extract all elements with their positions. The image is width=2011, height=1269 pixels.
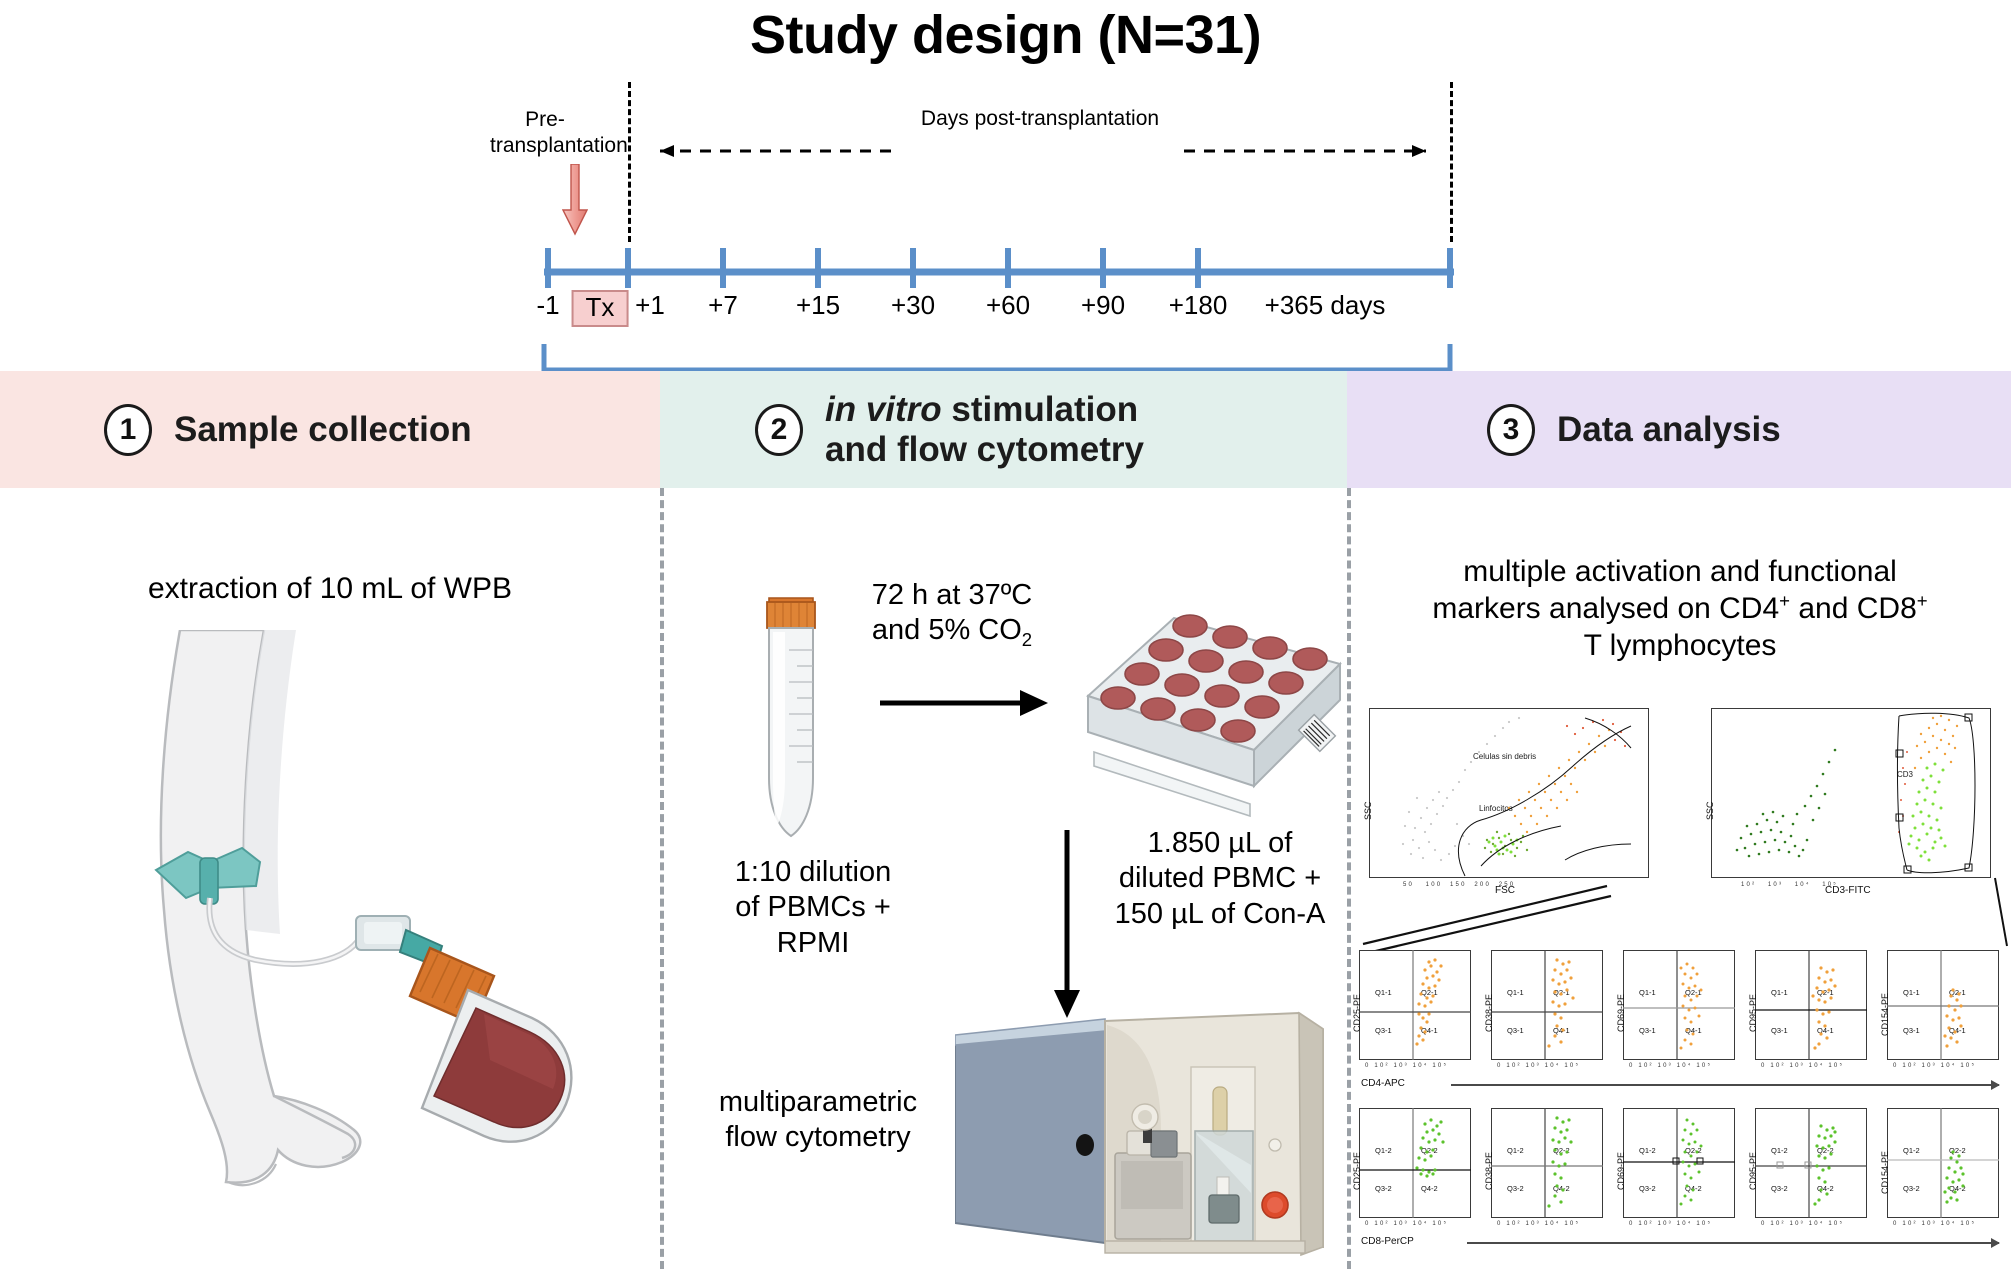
facs-plot-cd4-cd38-xticks: 0 10² 10³ 10⁴ 10⁵: [1497, 1063, 1580, 1069]
arrow-plate-to-cytometer-icon: [1050, 830, 1084, 1020]
multiparametric-line-1: multiparametric: [719, 1086, 917, 1118]
flow-cytometer-illustration: [955, 1005, 1345, 1260]
section-title-data-analysis: Data analysis: [1557, 410, 1781, 450]
facs-plot-cd8-cd95-xticks: 0 10² 10³ 10⁴ 10⁵: [1761, 1221, 1844, 1227]
timeline-tick-labels: -1 Tx +1 +7 +15 +30 +60 +90 +180 +365 da…: [0, 290, 2011, 330]
data-analysis-description: multiple activation and functional marke…: [1355, 553, 2005, 665]
facs-plot-cd4-cd69-xticks: 0 10² 10³ 10⁴ 10⁵: [1629, 1063, 1712, 1069]
cd8-row-axis-label: CD8-PerCP: [1361, 1236, 1414, 1247]
facs-plot-cd4-cd25-xticks: 0 10² 10³ 10⁴ 10⁵: [1365, 1063, 1448, 1069]
analysis-line-3: T lymphocytes: [1584, 629, 1777, 662]
facs-plot-cd8-cd38-xticks: 0 10² 10³ 10⁴ 10⁵: [1497, 1221, 1580, 1227]
blood-draw-illustration: [60, 630, 620, 1230]
days-post-transplantation-label: Days post-transplantation: [900, 106, 1180, 132]
facs-plot-cd8-cd69[interactable]: CD69-PE Q1-2 Q2-2 Q3-2 Q4-2 0 10² 10³ 10…: [1623, 1108, 1735, 1218]
timeline: Pre-transplantation Days post-transplant…: [0, 82, 2011, 352]
tick-label-plus30: +30: [891, 290, 935, 321]
dilution-label: 1:10 dilution of PBMCs + RPMI: [668, 855, 958, 961]
facs-plot-cd4-cd38[interactable]: CD38-PE Q1-1 Q2-1 Q3-1 Q4-1 0 10² 10³ 10…: [1491, 950, 1603, 1060]
facs-plot-cd8-cd69-xticks: 0 10² 10³ 10⁴ 10⁵: [1629, 1221, 1712, 1227]
facs-plot-ssc-fsc-xticks: 50 100 150 200 250: [1403, 882, 1515, 888]
analysis-line-1: multiple activation and functional: [1463, 555, 1897, 588]
timeline-divider-end: [1450, 82, 1453, 242]
culture-plate-illustration: [1078, 600, 1348, 835]
facs-plot-cd4-cd154[interactable]: CD154-PE Q1-1 Q2-1 Q3-1 Q4-1 0 10² 10³ 1…: [1887, 950, 1999, 1060]
days-arrow-left-icon: [640, 144, 898, 158]
analysis-line-2: markers analysed on CD4+ and CD8+: [1432, 592, 1927, 625]
facs-plot-cd8-cd95[interactable]: CD95-PE Q1-2 Q2-2 Q3-2 Q4-2 0 10² 10³ 10…: [1755, 1108, 1867, 1218]
facs-plot-cd8-cd25-xticks: 0 10² 10³ 10⁴ 10⁵: [1365, 1221, 1448, 1227]
facs-plot-cd8-cd154-xticks: 0 10² 10³ 10⁴ 10⁵: [1893, 1221, 1976, 1227]
facs-plot-cd4-cd95-xticks: 0 10² 10³ 10⁴ 10⁵: [1761, 1063, 1844, 1069]
section-title-sample-collection: Sample collection: [174, 410, 472, 450]
cd4-row-axis-label: CD4-APC: [1361, 1078, 1405, 1089]
tick-label-plus60: +60: [986, 290, 1030, 321]
tick-label-plus15: +15: [796, 290, 840, 321]
facs-plot-cd4-cd154-xticks: 0 10² 10³ 10⁴ 10⁵: [1893, 1063, 1976, 1069]
arrow-tube-to-plate-icon: [880, 686, 1050, 720]
section-header-sample-collection: 1 Sample collection: [0, 371, 660, 488]
section-title-in-vitro-stimulation: in vitro stimulation and flow cytometry: [825, 390, 1144, 470]
facs-plot-ssc-cd3[interactable]: SSC CD3-FITC CD3: [1711, 708, 1991, 878]
facs-plot-ssc-cd3-xticks: 10² 10³ 10⁴ 10⁵: [1741, 882, 1838, 888]
timeline-divider-start: [628, 82, 631, 242]
dilution-line-1: 1:10 dilution: [735, 856, 891, 888]
section-number-2: 2: [755, 404, 803, 456]
section-header-bands: 1 Sample collection 2 in vitro stimulati…: [0, 371, 2011, 488]
facs-plot-cd8-cd154[interactable]: CD154-PE Q1-2 Q2-2 Q3-2 Q4-2 0 10² 10³ 1…: [1887, 1108, 1999, 1218]
timeline-axis: [524, 232, 1454, 292]
column-divider-1: [660, 488, 664, 1269]
dilution-line-2: of PBMCs +: [735, 891, 891, 923]
conA-volume-label: 1.850 µL of diluted PBMC + 150 µL of Con…: [1090, 826, 1350, 932]
facs-plot-cd4-cd69[interactable]: CD69-PE Q1-1 Q2-1 Q3-1 Q4-1 0 10² 10³ 10…: [1623, 950, 1735, 1060]
incubation-conditions-label: 72 h at 37ºC and 5% CO2: [822, 578, 1082, 648]
cd8-row-axis-arrow-icon: [1467, 1242, 1999, 1244]
section-number-1: 1: [104, 404, 152, 456]
pre-transplantation-label: Pre-transplantation: [490, 107, 600, 158]
tx-badge: Tx: [572, 290, 629, 327]
section-title-italic-part: in vitro: [825, 390, 942, 429]
facs-plot-cd8-cd38[interactable]: CD38-PE Q1-2 Q2-2 Q3-2 Q4-2 0 10² 10³ 10…: [1491, 1108, 1603, 1218]
section-title-line2: and flow cytometry: [825, 430, 1144, 469]
tick-label-plus1: +1: [635, 290, 665, 321]
cd4-row-axis-arrow-icon: [1451, 1084, 1999, 1086]
days-arrow-right-icon: [1184, 144, 1446, 158]
tick-label-plus7: +7: [708, 290, 738, 321]
facs-plot-cd4-cd95[interactable]: CD95-PE Q1-1 Q2-1 Q3-1 Q4-1 0 10² 10³ 10…: [1755, 950, 1867, 1060]
facs-plot-cd4-cd25[interactable]: CD25-PE Q1-1 Q2-1 Q3-1 Q4-1 0 10² 10³ 10…: [1359, 950, 1471, 1060]
section-title-rest-part: stimulation: [942, 390, 1138, 429]
multiparametric-flow-label: multiparametric flow cytometry: [668, 1085, 968, 1156]
conA-line-2: diluted PBMC +: [1119, 862, 1321, 894]
tick-label-plus365: +365 days: [1265, 290, 1386, 321]
pre-transplantation-arrow-icon: [562, 164, 588, 236]
incubation-line-2: and 5% CO2: [872, 614, 1032, 646]
page-title: Study design (N=31): [0, 4, 2011, 66]
tick-label-plus180: +180: [1169, 290, 1228, 321]
multiparametric-line-2: flow cytometry: [725, 1121, 910, 1153]
conA-line-3: 150 µL of Con-A: [1115, 898, 1326, 930]
dilution-line-3: RPMI: [777, 927, 850, 959]
flow-cytometry-plots-panel: SSC FSC Celulas sin debris Linfocitos: [1355, 700, 2011, 1260]
section-number-3: 3: [1487, 404, 1535, 456]
section-header-in-vitro-stimulation: 2 in vitro stimulation and flow cytometr…: [660, 371, 1347, 488]
section-header-data-analysis: 3 Data analysis: [1347, 371, 2011, 488]
facs-plot-ssc-fsc[interactable]: SSC FSC Celulas sin debris Linfocitos: [1369, 708, 1649, 878]
conA-line-1: 1.850 µL of: [1148, 827, 1293, 859]
facs-plot-cd8-cd25[interactable]: CD25-PE Q1-2 Q2-2 Q3-2 Q4-2 0 10² 10³ 10…: [1359, 1108, 1471, 1218]
incubation-line-1: 72 h at 37ºC: [872, 579, 1033, 611]
sample-collection-description: extraction of 10 mL of WPB: [0, 572, 660, 606]
tick-label-minus1: -1: [536, 290, 559, 321]
tick-label-plus90: +90: [1081, 290, 1125, 321]
